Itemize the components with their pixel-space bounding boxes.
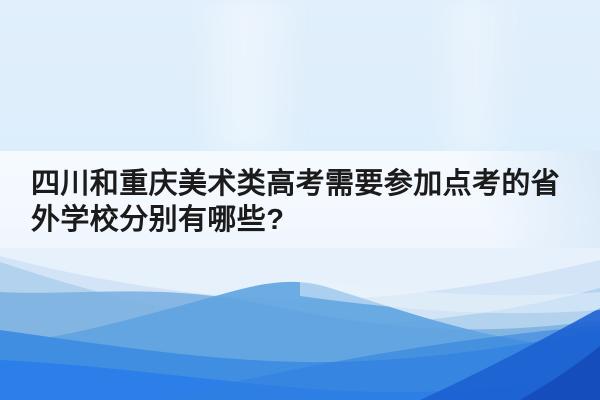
page-title: 四川和重庆美术类高考需要参加点考的省外学校分别有哪些? (31, 166, 579, 238)
question-title-card: 四川和重庆美术类高考需要参加点考的省外学校分别有哪些? (0, 0, 600, 400)
background-highlight-right (430, 0, 520, 151)
top-background-band (0, 0, 600, 151)
wave-illustration (0, 248, 600, 400)
background-highlight-left (190, 0, 310, 151)
